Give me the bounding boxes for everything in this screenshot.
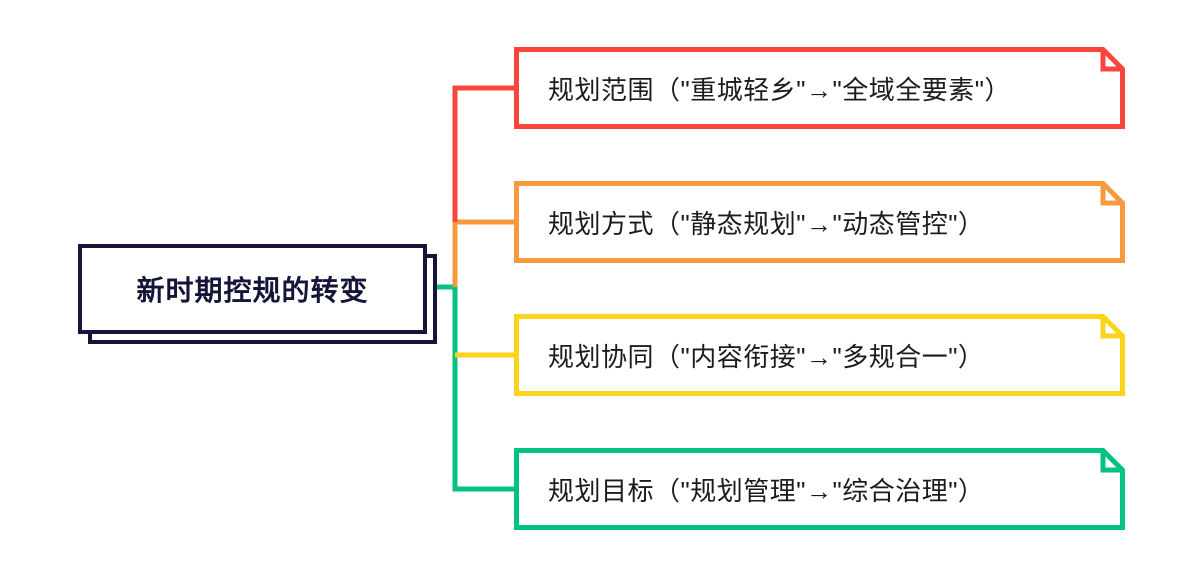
connector-branch-method bbox=[455, 222, 514, 287]
branch-label-method: 规划方式（"静态规划"→"动态管控"） bbox=[548, 181, 984, 263]
connector-branch-scope bbox=[455, 88, 514, 222]
branch-label-coordination: 规划协同（"内容衔接"→"多规合一"） bbox=[548, 314, 984, 396]
root-node-label: 新时期控规的转变 bbox=[136, 269, 368, 309]
root-node[interactable]: 新时期控规的转变 bbox=[78, 244, 427, 334]
branch-node-coordination[interactable]: 规划协同（"内容衔接"→"多规合一"） bbox=[514, 314, 1125, 396]
mindmap-canvas: 新时期控规的转变 规划范围（"重城轻乡"→"全域全要素"） 规划方式（"静态规划… bbox=[0, 0, 1200, 582]
branch-node-scope[interactable]: 规划范围（"重城轻乡"→"全域全要素"） bbox=[514, 47, 1125, 129]
connector-branch-goal bbox=[455, 287, 514, 489]
branch-node-method[interactable]: 规划方式（"静态规划"→"动态管控"） bbox=[514, 181, 1125, 263]
branch-label-scope: 规划范围（"重城轻乡"→"全域全要素"） bbox=[548, 47, 1011, 129]
branch-label-goal: 规划目标（"规划管理"→"综合治理"） bbox=[548, 448, 984, 530]
branch-node-goal[interactable]: 规划目标（"规划管理"→"综合治理"） bbox=[514, 448, 1125, 530]
